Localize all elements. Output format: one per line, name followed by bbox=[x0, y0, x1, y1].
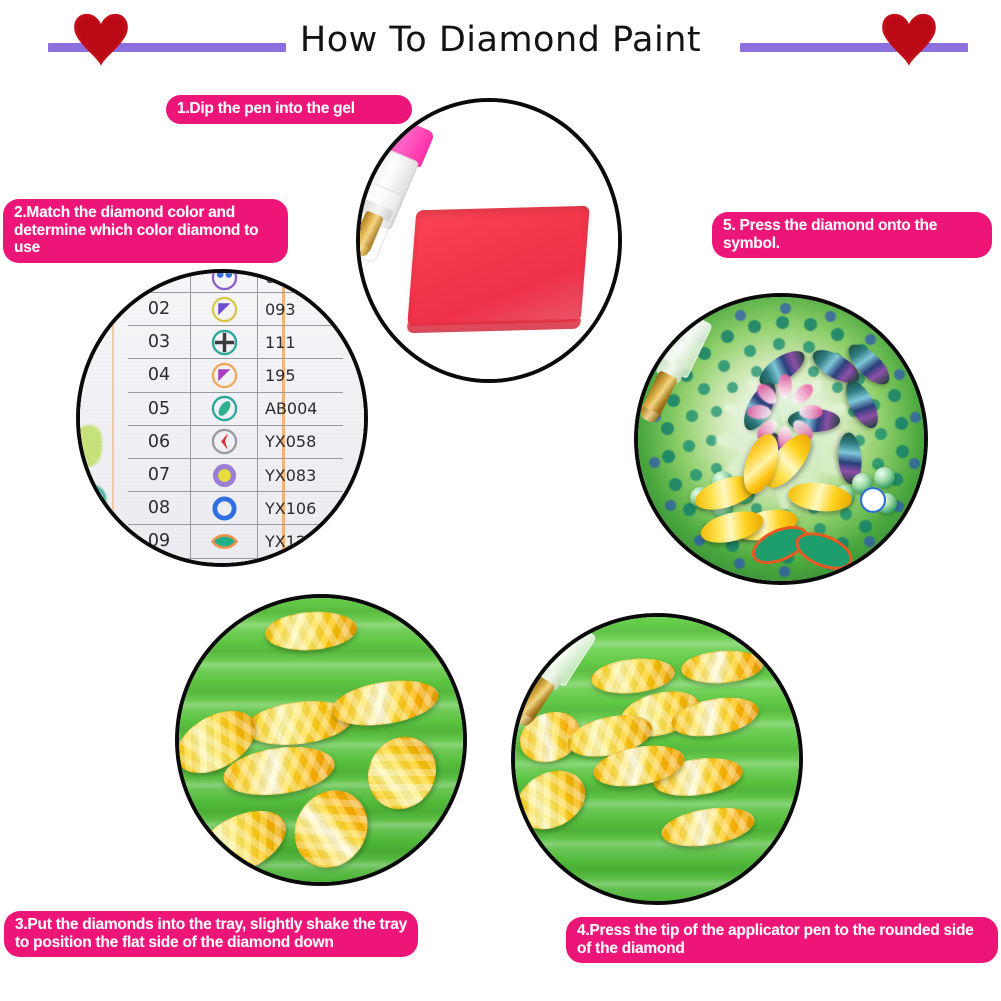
table-row: 06YX058 bbox=[128, 426, 343, 459]
photo-placing-diamond-on-canvas bbox=[634, 293, 928, 585]
cell-number: 08 bbox=[128, 492, 191, 524]
cell-symbol-leaf-lens-icon bbox=[191, 525, 258, 557]
table-row: 03111 bbox=[128, 326, 343, 359]
photo-diamonds-in-tray bbox=[175, 594, 467, 886]
yellow-drill bbox=[355, 725, 448, 821]
mandala-front-gems bbox=[638, 297, 924, 581]
drill-facets bbox=[590, 739, 687, 792]
page-title: How To Diamond Paint bbox=[0, 18, 1001, 62]
cell-color-code: AB004 bbox=[258, 393, 343, 425]
cell-number: 06 bbox=[128, 426, 191, 458]
drill-group bbox=[179, 598, 463, 882]
drill-group-front bbox=[515, 617, 799, 901]
table-row: 05AB004 bbox=[128, 393, 343, 426]
photo-pen-dipping-into-gel bbox=[356, 98, 622, 383]
table-row: 020 bbox=[128, 269, 343, 293]
header: How To Diamond Paint bbox=[0, 0, 1001, 90]
gel-pad bbox=[407, 206, 590, 326]
cell-symbol-open-ring-icon bbox=[191, 492, 258, 524]
cell-color-code: YX106 bbox=[258, 492, 343, 524]
cell-color-code: YX083 bbox=[258, 459, 343, 491]
cell-number: 09 bbox=[128, 525, 191, 557]
cell-color-code: 195 bbox=[258, 359, 343, 391]
table-row: 08YX106 bbox=[128, 492, 343, 525]
yellow-drill bbox=[787, 480, 854, 515]
yellow-drill bbox=[280, 777, 382, 882]
step-4-label: 4.Press the tip of the applicator pen to… bbox=[566, 917, 998, 963]
table-row: 07YX083 bbox=[128, 459, 343, 492]
cell-symbol-triangle-wedge-icon bbox=[191, 359, 258, 391]
table-row: 09YX125 bbox=[128, 525, 343, 558]
drill-facets bbox=[355, 725, 448, 821]
drill-facets bbox=[264, 609, 358, 653]
yellow-drill bbox=[264, 609, 358, 653]
table-row: 04195 bbox=[128, 359, 343, 392]
cell-symbol-double-dot-circle-icon bbox=[191, 269, 258, 292]
cell-number: 04 bbox=[128, 359, 191, 391]
drill-facets bbox=[280, 777, 382, 882]
cell-number: 02 bbox=[128, 293, 191, 325]
printed-cross-symbol bbox=[860, 487, 886, 513]
cell-color-code: 020 bbox=[258, 269, 343, 292]
cell-symbol-triangle-wedge-icon bbox=[191, 293, 258, 325]
cell-symbol-filled-dot-ring-icon bbox=[191, 459, 258, 491]
cell-symbol-slash-oval-icon bbox=[191, 393, 258, 425]
step-2-label: 2.Match the diamond color and determine … bbox=[3, 199, 288, 263]
photo-color-symbol-chart: 02002093031110419505AB00406YX05807YX0830… bbox=[76, 269, 368, 567]
photo-pen-picking-diamond bbox=[511, 613, 803, 905]
symbol-legend-table: 02002093031110419505AB00406YX05807YX0830… bbox=[128, 269, 343, 559]
cell-color-code: 093 bbox=[258, 293, 343, 325]
cell-number: 07 bbox=[128, 459, 191, 491]
cell-color-code: YX058 bbox=[258, 426, 343, 458]
step-5-label: 5. Press the diamond onto the symbol. bbox=[712, 212, 992, 258]
yellow-drill bbox=[590, 739, 687, 792]
cell-symbol-plus-cross-icon bbox=[191, 326, 258, 358]
cell-number bbox=[128, 269, 191, 292]
cell-symbol-chevron-left-icon bbox=[191, 426, 258, 458]
yellow-drill bbox=[186, 798, 296, 886]
cell-color-code: YX125 bbox=[258, 525, 343, 557]
cell-color-code: 111 bbox=[258, 326, 343, 358]
step-3-label: 3.Put the diamonds into the tray, slight… bbox=[4, 911, 418, 957]
cell-number: 05 bbox=[128, 393, 191, 425]
table-row: 02093 bbox=[128, 293, 343, 326]
drill-facets bbox=[186, 798, 296, 886]
cell-number: 03 bbox=[128, 326, 191, 358]
infographic-root: How To Diamond Paint 1.Dip the pen into … bbox=[0, 0, 1001, 1001]
